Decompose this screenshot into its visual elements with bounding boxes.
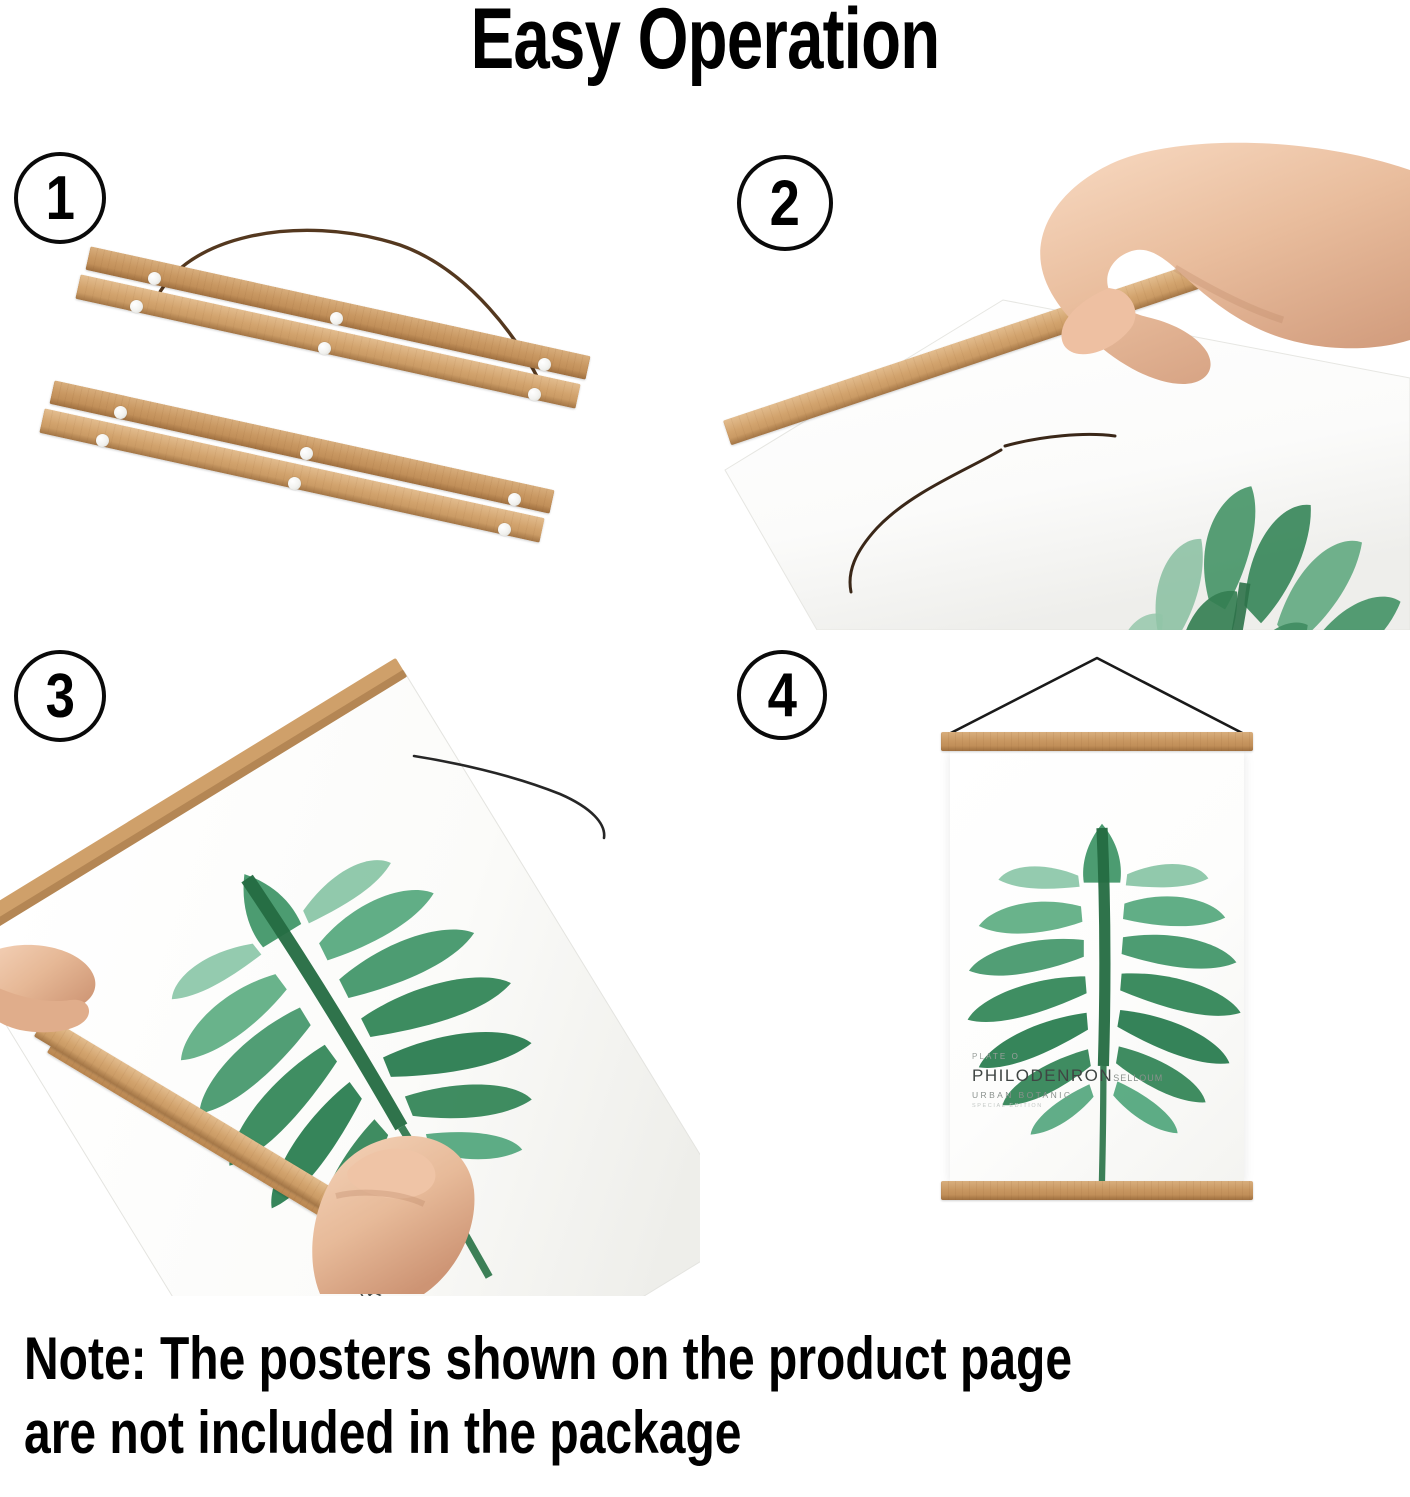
- slat-magnet: [498, 523, 511, 536]
- slat-edge: [941, 746, 1253, 751]
- poster-name-label: PHILODENRONSELLOUM: [972, 1063, 1163, 1089]
- step-3-illustration: PLATE O PHILODENRON SELLOUM URBAN BOTANI…: [0, 636, 700, 1296]
- slat-magnet: [148, 272, 161, 285]
- step-2-badge: 2: [737, 155, 833, 251]
- step-3-number: 3: [45, 661, 74, 732]
- poster-hanging: PLATE O PHILODENRONSELLOUM URBAN BOTANIC…: [950, 751, 1244, 1181]
- step-1-illustration: [0, 140, 700, 630]
- step-1-badge: 1: [14, 152, 106, 244]
- slat-magnet: [318, 342, 331, 355]
- hand-left-holding-rail: [0, 636, 700, 1296]
- slat-edge: [941, 1195, 1253, 1200]
- slat-magnet: [538, 358, 551, 371]
- slat-magnet: [114, 406, 127, 419]
- slat-magnet: [130, 300, 143, 313]
- frame-rail-top: [941, 732, 1253, 751]
- step-3-badge: 3: [14, 650, 106, 742]
- disclaimer-note: Note: The posters shown on the product p…: [24, 1322, 1133, 1470]
- page-title: Easy Operation: [169, 0, 1241, 84]
- slat-magnet: [300, 447, 313, 460]
- poster-subline-label: SPECIAL EDITION: [972, 1102, 1043, 1111]
- poster-plate-label: PLATE O: [972, 1051, 1020, 1063]
- poster-species-genus: PHILODENRON: [972, 1066, 1113, 1085]
- step-2-number: 2: [770, 166, 800, 240]
- poster-species-epithet: SELLOUM: [1113, 1073, 1163, 1083]
- note-line-1: Note: The posters shown on the product p…: [24, 1322, 1133, 1396]
- poster-brand-label: URBAN BOTANIC: [972, 1089, 1072, 1102]
- poster-artwork: [950, 751, 1244, 1181]
- slat-magnet: [330, 312, 343, 325]
- frame-rail-bottom: [941, 1181, 1253, 1200]
- slat-magnet: [528, 388, 541, 401]
- step-1-number: 1: [45, 163, 74, 234]
- step-4-illustration: PLATE O PHILODENRONSELLOUM URBAN BOTANIC…: [705, 636, 1410, 1296]
- slat-magnet: [508, 493, 521, 506]
- slat-magnet: [288, 477, 301, 490]
- step-4-number: 4: [767, 660, 796, 731]
- step-4-badge: 4: [737, 650, 827, 740]
- hanging-cord: [0, 140, 700, 630]
- slat-magnet: [96, 434, 109, 447]
- note-line-2: are not included in the package: [24, 1396, 1133, 1470]
